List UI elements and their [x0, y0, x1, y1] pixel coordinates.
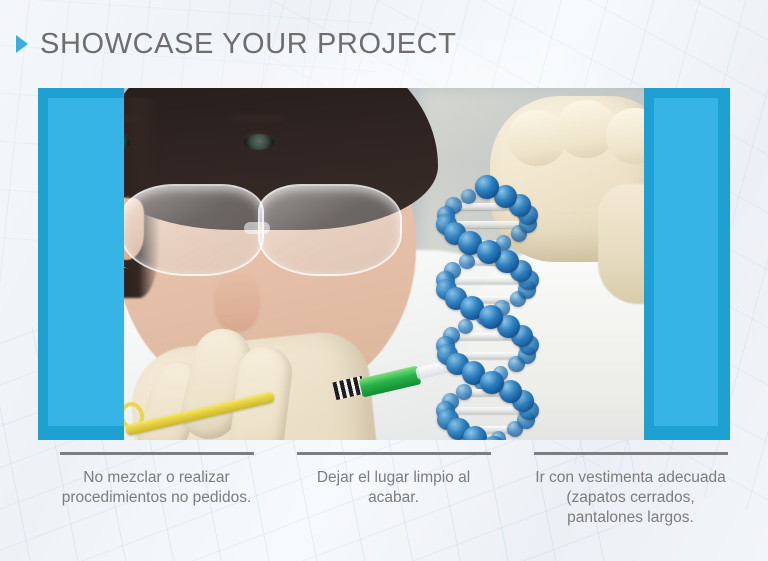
dna-helix-model — [424, 176, 550, 440]
image-accent-bar-right — [644, 88, 730, 440]
slide-title-row: SHOWCASE YOUR PROJECT — [16, 24, 457, 64]
caption-divider — [297, 452, 491, 455]
image-accent-bar-left-inner — [48, 98, 124, 426]
dna-bead — [475, 175, 499, 199]
caption-text: Ir con vestimenta adecuada (zapatos cerr… — [531, 468, 731, 528]
page-title: SHOWCASE YOUR PROJECT — [40, 30, 457, 59]
goggle-lens-left — [120, 184, 264, 276]
caption-block-1: No mezclar o realizar procedimientos no … — [38, 452, 275, 528]
goggle-lens-right — [258, 184, 402, 276]
caption-divider — [60, 452, 254, 455]
presentation-slide: SHOWCASE YOUR PROJECT — [0, 0, 768, 561]
image-accent-bar-right-inner — [654, 98, 718, 426]
triangle-right-icon — [16, 35, 28, 53]
caption-row: No mezclar o realizar procedimientos no … — [38, 452, 750, 528]
caption-block-2: Dejar el lugar limpio al acabar. — [275, 452, 512, 528]
slide-image — [38, 88, 730, 440]
safety-goggles-icon — [112, 174, 412, 282]
eye-right — [244, 134, 274, 150]
caption-text: Dejar el lugar limpio al acabar. — [294, 468, 494, 508]
slide-image-content — [38, 88, 730, 440]
dna-bead — [459, 254, 475, 270]
caption-block-3: Ir con vestimenta adecuada (zapatos cerr… — [512, 452, 749, 528]
dna-bead — [479, 305, 503, 329]
goggle-bridge — [244, 222, 270, 234]
dna-bead — [477, 240, 501, 264]
caption-text: No mezclar o realizar procedimientos no … — [57, 468, 257, 508]
caption-divider — [534, 452, 728, 455]
image-accent-bar-left — [38, 88, 124, 440]
eyebrow-right — [228, 114, 286, 122]
dna-bead — [461, 189, 476, 204]
